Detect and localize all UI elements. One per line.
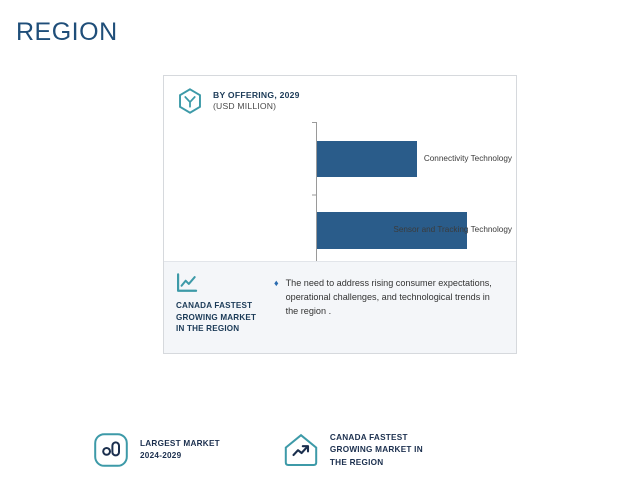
info-panel-caption: CANADA FASTEST GROWING MARKET IN THE REG… <box>176 300 262 335</box>
legend-item-largest-market-text: LARGEST MARKET 2024-2029 <box>140 438 220 463</box>
hexagon-y-icon <box>176 87 204 115</box>
chart-card-header: BY OFFERING, 2029 (USD MILLION) <box>176 87 300 115</box>
page-title: REGION <box>16 18 118 47</box>
bar-chart-badge-icon <box>93 432 129 468</box>
chart-card: BY OFFERING, 2029 (USD MILLION) Connecti… <box>163 75 517 354</box>
bar-chart-plot: Connectivity Technology Sensor and Track… <box>164 119 518 266</box>
bullet-diamond-icon: ♦ <box>274 276 279 353</box>
legend-2-line-3: THE REGION <box>330 457 423 469</box>
line-chart-icon <box>176 273 262 293</box>
info-panel-left: CANADA FASTEST GROWING MARKET IN THE REG… <box>164 262 268 353</box>
legend-item-largest-market: LARGEST MARKET 2024-2029 <box>93 432 220 468</box>
house-trend-arrow-badge-icon <box>283 432 319 468</box>
info-caption-line-3: IN THE REGION <box>176 323 262 335</box>
legend-item-canada-fastest-growing-text: CANADA FASTEST GROWING MARKET IN THE REG… <box>330 432 423 469</box>
info-caption-line-1: CANADA FASTEST <box>176 300 262 312</box>
legend-2-line-1: CANADA FASTEST <box>330 432 423 444</box>
legend: LARGEST MARKET 2024-2029 CANADA FASTEST … <box>93 432 423 469</box>
legend-2-line-2: GROWING MARKET IN <box>330 444 423 456</box>
legend-item-canada-fastest-growing: CANADA FASTEST GROWING MARKET IN THE REG… <box>283 432 423 469</box>
chart-title: BY OFFERING, 2029 <box>213 90 300 101</box>
info-caption-line-2: GROWING MARKET <box>176 312 262 324</box>
legend-1-line-2: 2024-2029 <box>140 450 220 462</box>
chart-card-titles: BY OFFERING, 2029 (USD MILLION) <box>213 90 300 111</box>
info-panel: CANADA FASTEST GROWING MARKET IN THE REG… <box>164 261 516 353</box>
info-panel-bullet-text: The need to address rising consumer expe… <box>286 276 502 353</box>
legend-1-line-1: LARGEST MARKET <box>140 438 220 450</box>
info-panel-right: ♦ The need to address rising consumer ex… <box>268 262 516 353</box>
chart-subtitle: (USD MILLION) <box>213 101 300 112</box>
category-label-connectivity-technology: Connectivity Technology <box>364 154 518 163</box>
category-label-sensor-and-tracking-technology: Sensor and Tracking Technology <box>364 225 518 234</box>
